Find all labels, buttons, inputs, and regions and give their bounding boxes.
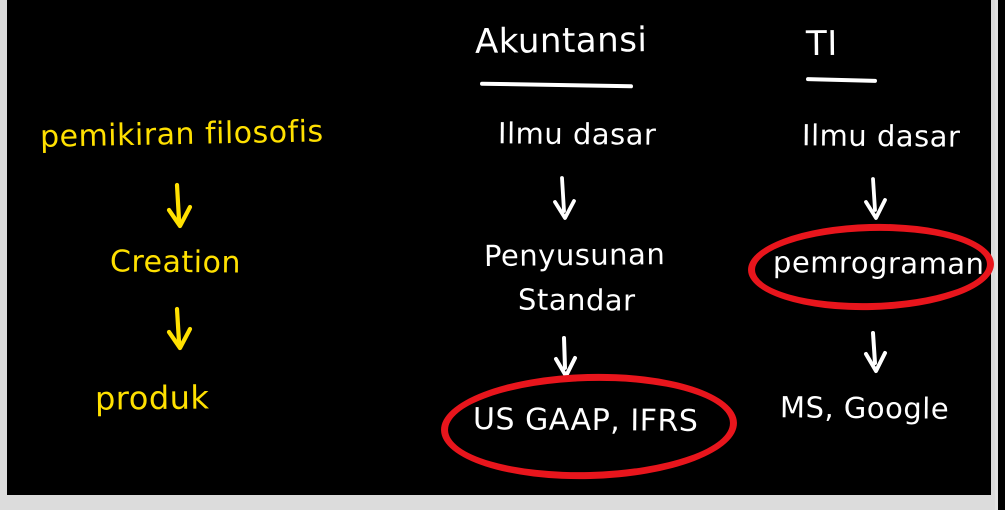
middle-column-title-underline	[480, 82, 633, 89]
middle-node-standar: Standar	[518, 284, 636, 315]
middle-column-title-akuntansi: Akuntansi	[475, 23, 648, 60]
middle-node-us-gaap-ifrs: US GAAP, IFRS	[473, 404, 699, 437]
middle-arrow-1-icon	[544, 175, 588, 227]
middle-node-penyusunan: Penyusunan	[484, 239, 666, 271]
left-node-pemikiran-filosofis: pemikiran filosofis	[40, 116, 324, 153]
left-node-produk: produk	[95, 381, 210, 416]
right-column-title-underline	[806, 77, 877, 83]
left-arrow-2-icon	[159, 306, 205, 358]
right-arrow-1-icon	[855, 176, 899, 228]
left-arrow-1-icon	[159, 182, 205, 234]
right-edge-light-strip	[995, 0, 998, 510]
right-arrow-2-icon	[855, 330, 899, 382]
diagram-canvas: pemikiran filosofis Creation produk Akun…	[0, 0, 1005, 510]
right-edge-black-strip	[998, 0, 1005, 510]
left-node-creation: Creation	[110, 246, 241, 279]
blackboard-surface: pemikiran filosofis Creation produk Akun…	[7, 0, 991, 495]
right-node-pemrograman: pemrograman	[773, 247, 985, 279]
right-node-ms-google: MS, Google	[780, 392, 949, 424]
right-column-title-ti: TI	[806, 27, 838, 63]
middle-node-ilmu-dasar: Ilmu dasar	[498, 118, 657, 150]
right-node-ilmu-dasar: Ilmu dasar	[802, 120, 961, 152]
